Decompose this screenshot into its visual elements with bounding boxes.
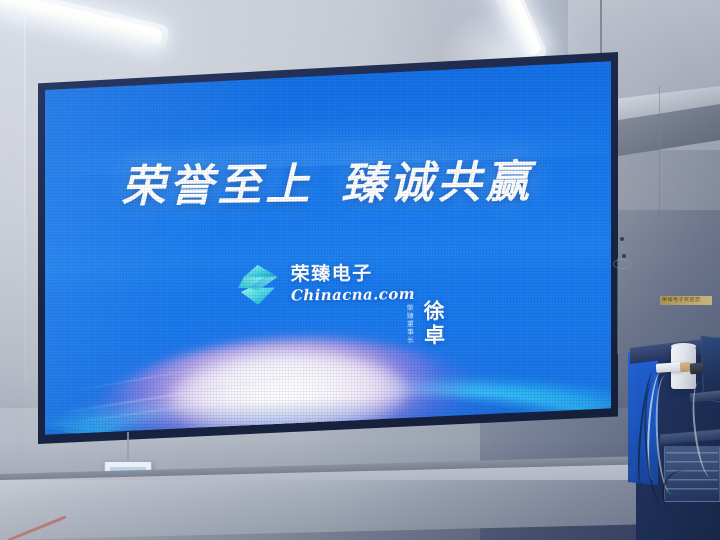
slide-content: 荣誉至上臻诚共赢	[45, 59, 611, 437]
screen-panel[interactable]: 荣誉至上臻诚共赢	[45, 59, 611, 437]
floor-shading	[0, 480, 720, 540]
slogan-part-1: 荣誉至上	[121, 159, 314, 212]
slide-slogan: 荣誉至上臻诚共赢	[45, 144, 611, 215]
slogan-part-2: 臻诚共赢	[341, 156, 534, 209]
chinacna-z-mark-icon	[235, 262, 282, 309]
wall-fixture-dot-2	[622, 254, 626, 258]
logo-company-url: Chinacna.com	[291, 287, 415, 304]
control-panel-conduit	[127, 432, 129, 462]
wall-fixture-ring	[613, 259, 631, 269]
wall-conduit	[617, 258, 619, 354]
signature-title: 荣臻董事长	[405, 304, 415, 344]
logo-company-name-cn: 荣臻电子	[291, 264, 415, 285]
company-logo: 荣臻电子 Chinacna.com	[235, 260, 416, 308]
power-adapter-dark	[690, 363, 704, 375]
logo-text-block: 荣臻电子 Chinacna.com	[291, 264, 415, 304]
signature-name: 徐卓	[418, 299, 449, 347]
wall-sign-text: 荣臻电子欢迎您	[662, 297, 710, 304]
room-scene: 荣誉至上臻诚共赢	[0, 0, 720, 540]
wall-fixture-dot-1	[620, 237, 624, 241]
slide-signature: 荣臻董事长 徐卓	[405, 299, 449, 348]
led-video-wall[interactable]: 荣誉至上臻诚共赢	[38, 52, 618, 444]
